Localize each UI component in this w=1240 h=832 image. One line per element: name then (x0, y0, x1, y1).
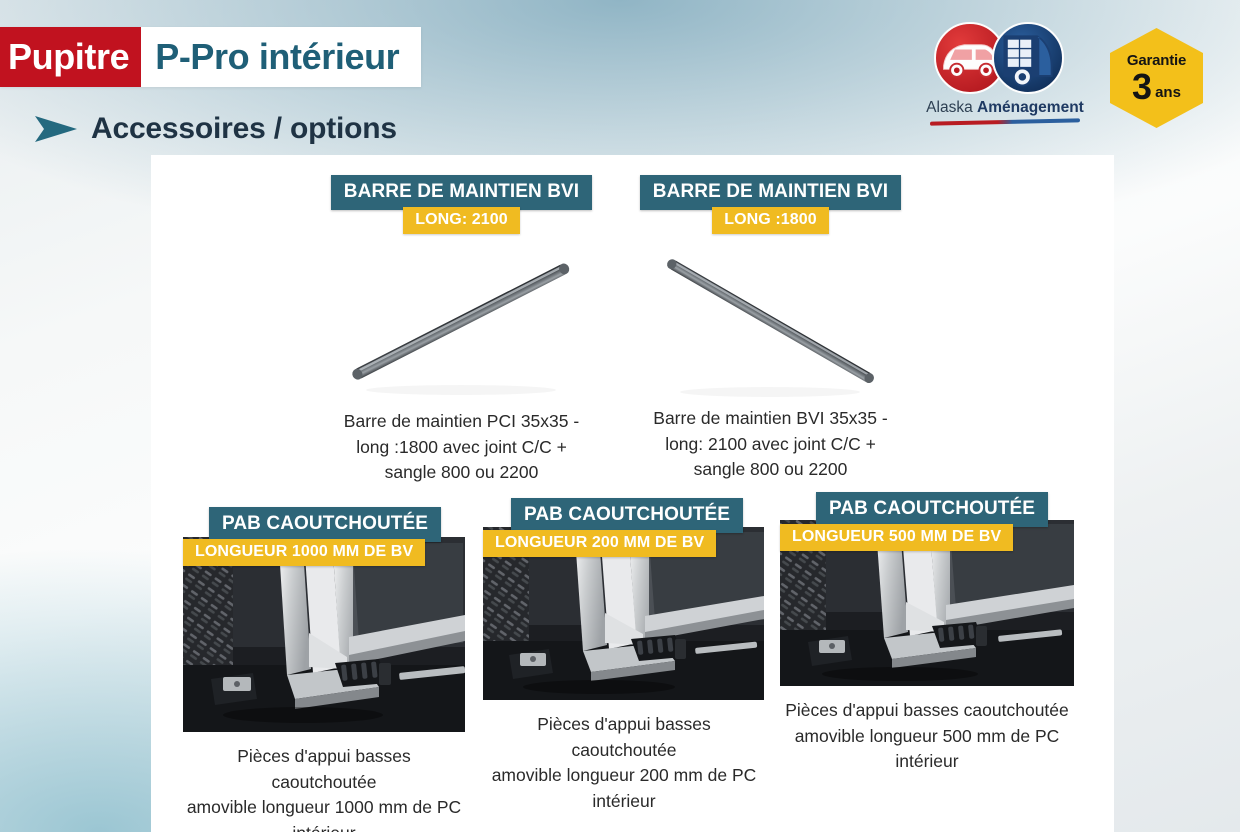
brand-marks (920, 20, 1090, 96)
product-title-badge: PAB CAOUTCHOUTÉE (209, 507, 441, 542)
section-subtitle-label: Accessoires / options (91, 112, 397, 146)
caption-line: Barre de maintien PCI 35x35 - (330, 409, 593, 435)
product-title-badge: BARRE DE MAINTIEN BVI (331, 175, 592, 210)
slide-title-bar: Pupitre P-Pro intérieur (0, 27, 421, 87)
product-length-badge: LONG: 2100 (403, 207, 520, 234)
caption-line: Pièces d'appui basses caoutchoutée (483, 712, 765, 763)
caption-line: intérieur (780, 749, 1074, 775)
caption-line: Pièces d'appui basses caoutchoutée (183, 744, 465, 795)
product-badges: PAB CAOUTCHOUTÉE LONGUEUR 200 MM DE BV (511, 498, 765, 557)
product-length-badge: LONGUEUR 500 MM DE BV (780, 524, 1013, 551)
brand-name-second: Aménagement (977, 99, 1084, 116)
holding-bar-photo (330, 240, 593, 405)
product-length-badge: LONGUEUR 200 MM DE BV (483, 530, 716, 557)
triangle-right-icon (33, 114, 79, 144)
brand-name: Alaska Aménagement (920, 99, 1090, 117)
product-card-pab-3: PAB CAOUTCHOUTÉE LONGUEUR 500 MM DE BV (780, 498, 1074, 775)
brand-underline (930, 118, 1080, 125)
product-title-badge: PAB CAOUTCHOUTÉE (511, 498, 743, 533)
product-caption: Pièces d'appui basses caoutchoutée amovi… (183, 744, 465, 832)
brand-name-first: Alaska (926, 99, 977, 116)
caption-line: long :1800 avec joint C/C + (330, 435, 593, 461)
slide-root: Pupitre P-Pro intérieur Accessoires / op… (0, 0, 1240, 832)
caption-line: intérieur (183, 821, 465, 832)
caption-line: amovible longueur 1000 mm de PC (183, 795, 465, 821)
warranty-value-row: 3 ans (1132, 70, 1181, 104)
caption-line: Barre de maintien BVI 35x35 - (639, 406, 902, 432)
caption-line: amovible longueur 500 mm de PC (780, 724, 1074, 750)
product-length-badge: LONG :1800 (712, 207, 829, 234)
product-badges: BARRE DE MAINTIEN BVI LONG: 2100 (330, 175, 593, 234)
caption-line: amovible longueur 200 mm de PC (483, 763, 765, 789)
product-caption: Pièces d'appui basses caoutchoutée amovi… (483, 712, 765, 815)
caption-line: Pièces d'appui basses caoutchoutée (780, 698, 1074, 724)
warranty-number: 3 (1132, 70, 1152, 104)
warranty-unit: ans (1155, 84, 1181, 101)
caption-line: intérieur (483, 789, 765, 815)
warranty-badge: Garantie 3 ans (1110, 28, 1203, 128)
product-card-pab-2: PAB CAOUTCHOUTÉE LONGUEUR 200 MM DE BV (483, 505, 765, 815)
product-caption: Barre de maintien BVI 35x35 - long: 2100… (639, 406, 902, 483)
product-card-bar-2: BARRE DE MAINTIEN BVI LONG :1800 (639, 175, 902, 483)
product-card-pab-1: PAB CAOUTCHOUTÉE LONGUEUR 1000 MM DE BV (183, 515, 465, 832)
caption-line: sangle 800 ou 2200 (330, 460, 593, 486)
caption-line: long: 2100 avec joint C/C + (639, 432, 902, 458)
caption-line: sangle 800 ou 2200 (639, 457, 902, 483)
brand-logo: Alaska Aménagement (920, 20, 1090, 124)
product-title-badge: BARRE DE MAINTIEN BVI (640, 175, 901, 210)
product-title-badge: PAB CAOUTCHOUTÉE (816, 492, 1048, 527)
product-length-badge: LONGUEUR 1000 MM DE BV (183, 539, 425, 566)
section-subtitle-row: Accessoires / options (33, 112, 397, 146)
product-badges: PAB CAOUTCHOUTÉE LONGUEUR 500 MM DE BV (816, 492, 1074, 551)
page-title: P-Pro intérieur (141, 27, 421, 87)
product-caption: Barre de maintien PCI 35x35 - long :1800… (330, 409, 593, 486)
van-shelving-icon (992, 22, 1064, 94)
product-caption: Pièces d'appui basses caoutchoutée amovi… (780, 698, 1074, 775)
holding-bar-photo (639, 240, 902, 405)
product-badges: BARRE DE MAINTIEN BVI LONG :1800 (639, 175, 902, 234)
content-panel: BARRE DE MAINTIEN BVI LONG: 2100 (151, 155, 1114, 832)
product-card-bar-1: BARRE DE MAINTIEN BVI LONG: 2100 (330, 175, 593, 486)
product-badges: PAB CAOUTCHOUTÉE LONGUEUR 1000 MM DE BV (209, 507, 465, 566)
product-family-tag: Pupitre (0, 27, 141, 87)
rubber-support-foot-photo (183, 537, 465, 732)
